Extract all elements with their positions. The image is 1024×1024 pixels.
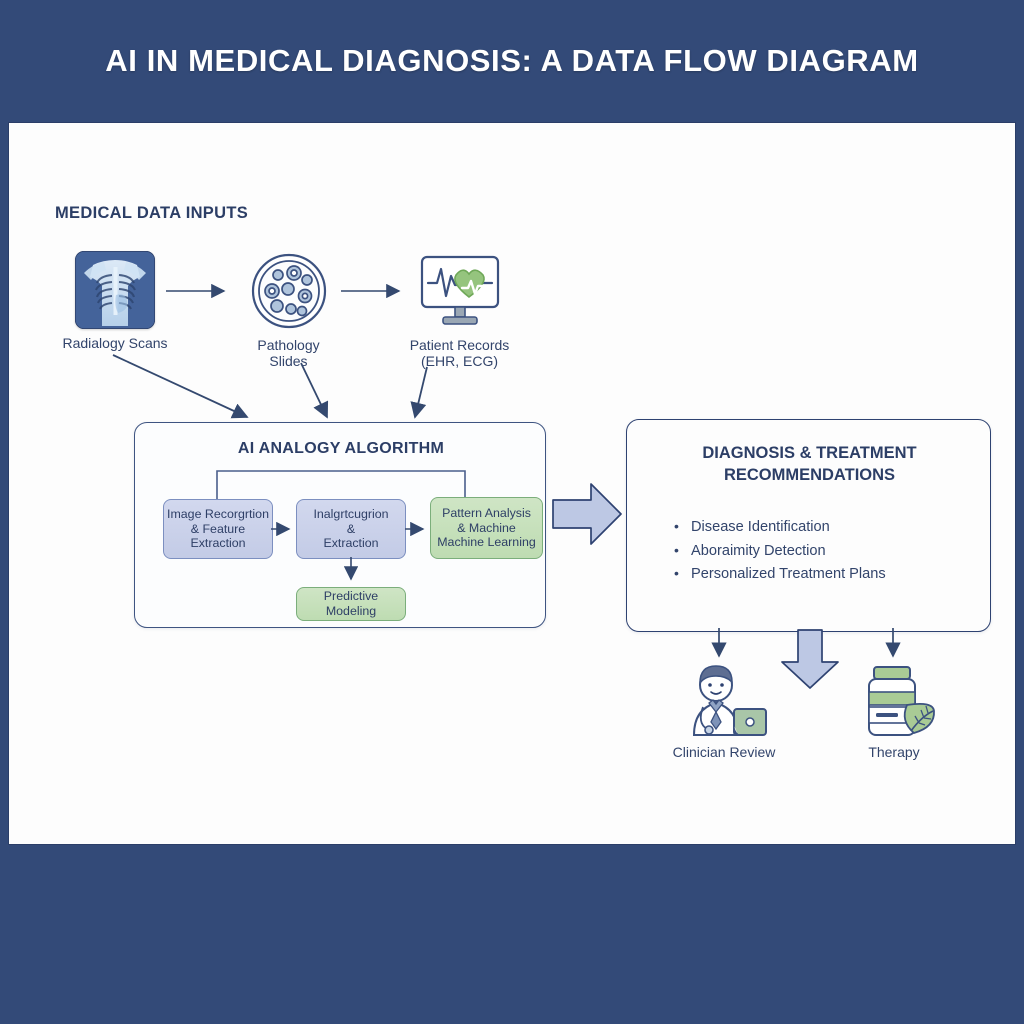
title-band: AI in Medical Diagnosis: A Data Flow Dia… [0, 0, 1024, 122]
ai-algorithm-panel: AI ANALOGY ALGORITHM Image Recorgrtion &… [134, 422, 546, 628]
connector-records-to-ai [409, 365, 449, 429]
ai-branch-predictive-modeling[interactable]: Predictive Modeling [296, 587, 406, 621]
doctor-icon [676, 661, 772, 739]
block-arrow-ai-to-diagnosis [551, 478, 625, 550]
diagram-canvas: MEDICAL DATA INPUTS [8, 122, 1016, 845]
input-node-radiology-scans[interactable]: Radialogy Scans [55, 251, 175, 352]
input-label-radiology-scans: Radialogy Scans [55, 336, 175, 352]
connector-step2-to-step3 [405, 519, 435, 539]
outcome-therapy[interactable]: Therapy [829, 661, 959, 760]
diagnosis-treatment-panel: DIAGNOSIS & TREATMENT RECOMMENDATIONS Di… [626, 419, 991, 632]
ai-step-pattern-analysis[interactable]: Pattern Analysis & Machine Machine Learn… [430, 497, 543, 559]
ai-step-image-recognition[interactable]: Image Recorgrtion & Feature Extraction [163, 499, 273, 559]
page-title: AI in Medical Diagnosis: A Data Flow Dia… [105, 43, 918, 79]
connector-radiology-to-ai [109, 351, 269, 429]
list-item: Personalized Treatment Plans [672, 563, 982, 587]
pill-bottle-leaf-icon [849, 661, 939, 739]
outcome-label-therapy: Therapy [829, 744, 959, 760]
connector-step2-to-predictive [341, 557, 361, 591]
list-item: Disease Identification [672, 516, 982, 540]
ecg-monitor-icon [416, 251, 504, 331]
list-item: Aboraimity Detection [672, 540, 982, 564]
ai-step-integration-extraction[interactable]: Inalgrtcugrion & Extraction [296, 499, 406, 559]
connector-step1-to-step2 [271, 519, 301, 539]
diagnosis-outcome-list: Disease Identification Aboraimity Detect… [672, 516, 982, 587]
xray-icon [75, 251, 155, 329]
diagnosis-treatment-title: DIAGNOSIS & TREATMENT RECOMMENDATIONS [627, 442, 992, 487]
section-heading-medical-data-inputs: MEDICAL DATA INPUTS [55, 204, 248, 223]
petri-dish-icon [247, 251, 331, 331]
input-node-patient-records[interactable]: Patient Records (EHR, ECG) [397, 251, 522, 369]
connector-pathology-to-ai [299, 361, 349, 429]
outcome-clinician-review[interactable]: Clinician Review [649, 661, 799, 760]
outcome-label-clinician-review: Clinician Review [649, 744, 799, 760]
connector-xray-to-petri [164, 281, 234, 301]
connector-petri-to-monitor [339, 281, 409, 301]
